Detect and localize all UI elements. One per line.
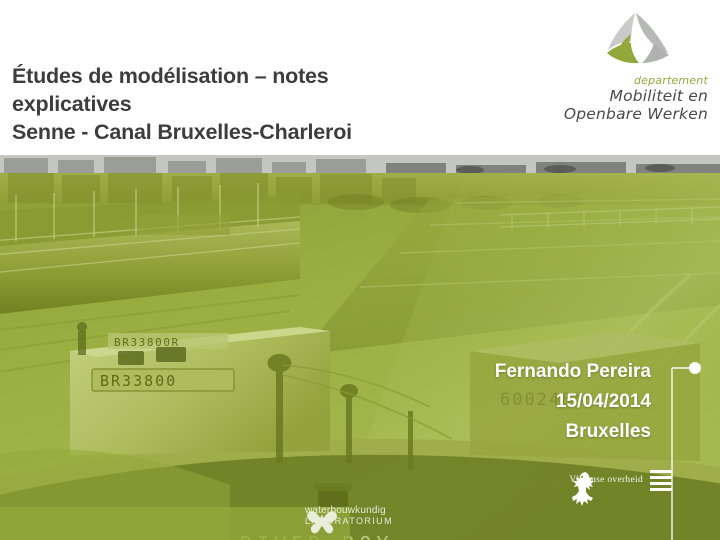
waterbouwkundig-laboratorium-logo: waterbouwkundig LABORATORIUM xyxy=(305,505,393,527)
departement-line-2: Openbare Werken xyxy=(538,105,708,123)
presentation-title-slide: BR33800 BR33800R xyxy=(0,0,720,540)
butterfly-icon xyxy=(305,505,339,535)
slide-header: Études de modélisation – notes explicati… xyxy=(0,0,720,155)
flemish-lion-icon xyxy=(569,470,599,510)
author-block: Fernando Pereira 15/04/2014 Bruxelles xyxy=(495,357,651,447)
title-line-3: Senne - Canal Bruxelles-Charleroi xyxy=(12,118,482,146)
title-line-2: explicatives xyxy=(12,90,482,118)
presentation-date: 15/04/2014 xyxy=(495,387,651,417)
departement-label: departement xyxy=(538,74,708,87)
vlaamse-overheid-logo: Vlaamse overheid xyxy=(569,470,672,491)
slide-title: Études de modélisation – notes explicati… xyxy=(12,62,482,146)
presentation-location: Bruxelles xyxy=(495,417,651,447)
departement-logo: departement Mobiliteit en Openbare Werke… xyxy=(538,12,708,134)
departement-line-1: Mobiliteit en xyxy=(538,87,708,105)
author-name: Fernando Pereira xyxy=(495,357,651,387)
background-photo: BR33800 BR33800R xyxy=(0,155,720,540)
departement-logo-text: departement Mobiliteit en Openbare Werke… xyxy=(538,74,708,123)
vlaamse-overheid-bars xyxy=(650,470,672,491)
mow-triangle-swoosh-icon xyxy=(598,12,676,72)
title-line-1: Études de modélisation – notes xyxy=(12,62,482,90)
